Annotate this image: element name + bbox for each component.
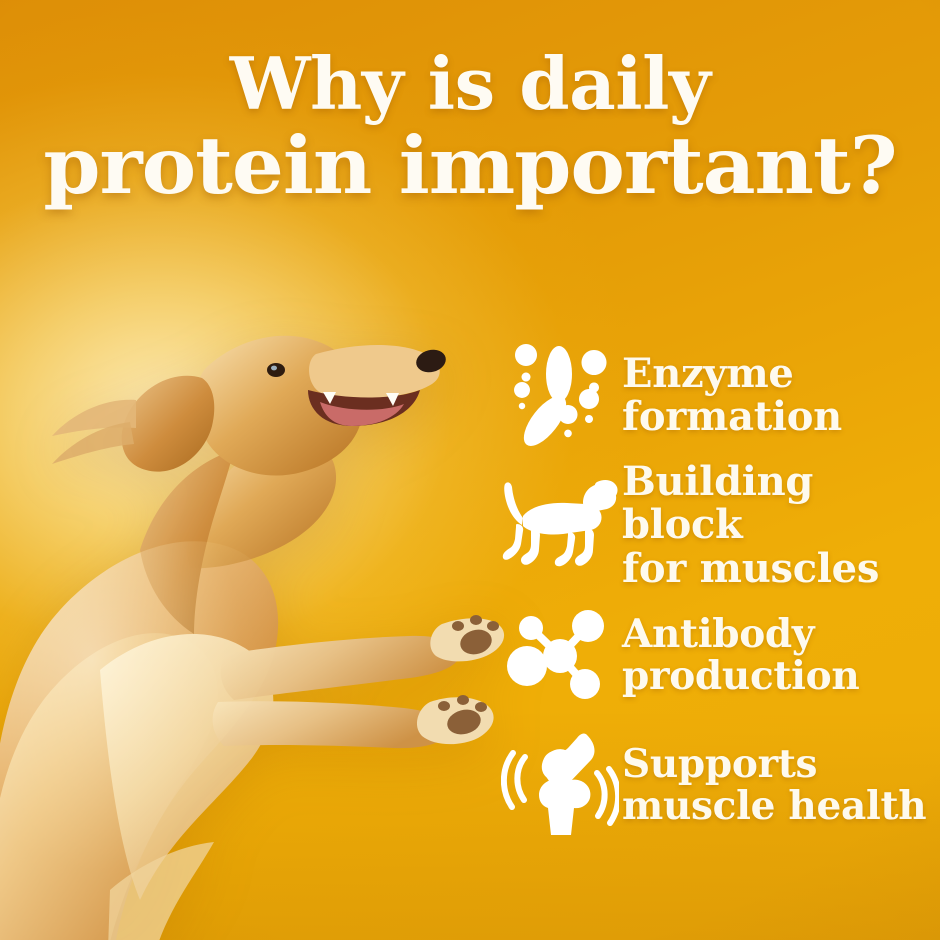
benefit-label: Supports muscle health xyxy=(622,743,934,827)
enzyme-icon xyxy=(498,339,622,451)
protein-benefits-poster: Why is daily protein important? xyxy=(0,0,940,940)
headline-line-1: Why is daily xyxy=(0,48,940,120)
headline-line-2: protein important? xyxy=(0,126,940,205)
benefit-label: Enzyme formation xyxy=(622,352,934,438)
list-item: Building block for muscles xyxy=(498,460,934,590)
list-item: Enzyme formation xyxy=(498,330,934,460)
dog-silhouette-icon xyxy=(498,469,622,581)
hero-dog-image xyxy=(0,250,510,940)
benefit-label: Building block for muscles xyxy=(622,460,934,590)
benefits-list: Enzyme formation xyxy=(498,330,934,850)
page-title: Why is daily protein important? xyxy=(0,48,940,205)
list-item: Antibody production xyxy=(498,590,934,720)
molecule-icon xyxy=(498,599,622,711)
joint-bone-icon xyxy=(498,729,622,841)
benefit-label: Antibody production xyxy=(622,613,934,697)
list-item: Supports muscle health xyxy=(498,720,934,850)
